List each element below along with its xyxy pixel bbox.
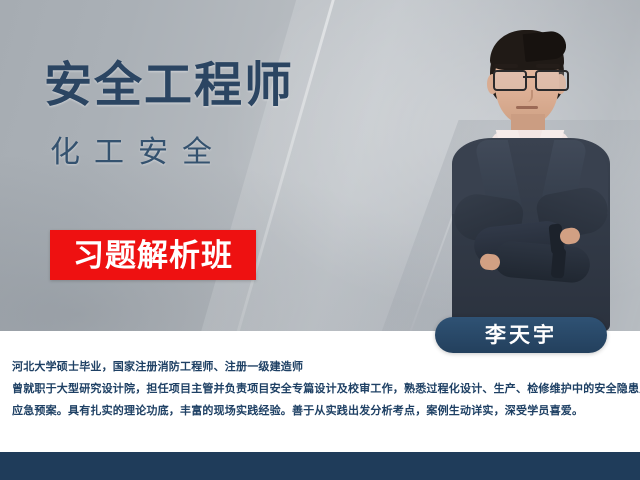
portrait-mouth xyxy=(516,106,538,109)
portrait-cuff-b xyxy=(551,247,567,278)
instructor-name-badge: 李天宇 xyxy=(435,317,607,353)
instructor-name-label: 李天宇 xyxy=(485,325,557,346)
title-block: 安全工程师 化工安全 xyxy=(44,62,294,168)
course-sub-title: 化工安全 xyxy=(50,138,294,168)
course-main-title: 安全工程师 xyxy=(44,62,294,110)
class-type-badge-label: 习题解析班 xyxy=(73,240,233,271)
portrait-glasses-bridge xyxy=(523,76,535,78)
portrait-glasses xyxy=(490,70,568,88)
portrait-lens-right xyxy=(535,70,569,91)
bio-line-1: 河北大学硕士毕业，国家注册消防工程师、注册一级建造师 xyxy=(12,359,632,376)
bio-line-3: 应急预案。具有扎实的理论功底，丰富的现场实践经验。善于从实践出发分析考点，案例生… xyxy=(12,403,632,420)
class-type-badge: 习题解析班 xyxy=(50,230,256,280)
footer-bar xyxy=(0,452,640,480)
bio-line-2: 曾就职于大型研究设计院，担任项目主管并负责项目安全专篇设计及校审工作，熟悉过程化… xyxy=(12,381,632,398)
portrait-eyebrow-left xyxy=(494,64,518,68)
hero-banner: 安全工程师 化工安全 习题解析班 xyxy=(0,0,640,331)
portrait-eyebrow-right xyxy=(536,64,560,68)
course-promo-card: 安全工程师 化工安全 习题解析班 李天宇 河北大学硕士毕业，国家注册消防工程师、… xyxy=(0,0,640,480)
portrait-lens-left xyxy=(493,70,527,91)
instructor-portrait xyxy=(432,18,628,331)
